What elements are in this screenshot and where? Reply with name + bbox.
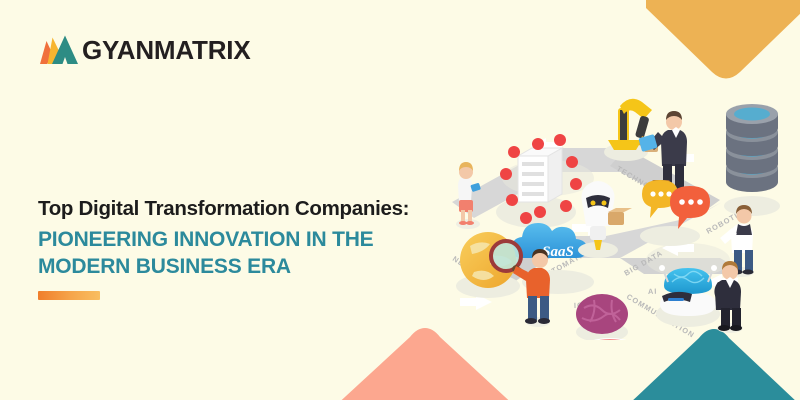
ai-robot-head-icon <box>656 265 720 327</box>
robot-arm-icon <box>604 99 658 161</box>
page-title: PIONEERING INNOVATION IN THE MODERN BUSI… <box>38 227 468 281</box>
digital-transformation-illustration: TECHNOLOGY BIG DATA AUTOMATION COMMUNICA… <box>430 60 800 340</box>
database-stack-icon <box>724 104 780 216</box>
chat-bubbles-icon <box>640 180 710 246</box>
path-label-ai: AI <box>648 287 658 296</box>
kicker-text: Top Digital Transformation Companies: <box>38 196 468 222</box>
marketing-banner: GYANMATRIX Top Digital Transformation Co… <box>0 0 800 400</box>
mountain-peaks-icon <box>38 33 80 67</box>
purple-brain-icon <box>576 294 628 340</box>
brand-logo[interactable]: GYANMATRIX <box>38 33 250 67</box>
headline-block: Top Digital Transformation Companies: PI… <box>38 196 468 280</box>
accent-rule <box>38 291 100 300</box>
brand-wordmark: GYANMATRIX <box>82 37 250 63</box>
